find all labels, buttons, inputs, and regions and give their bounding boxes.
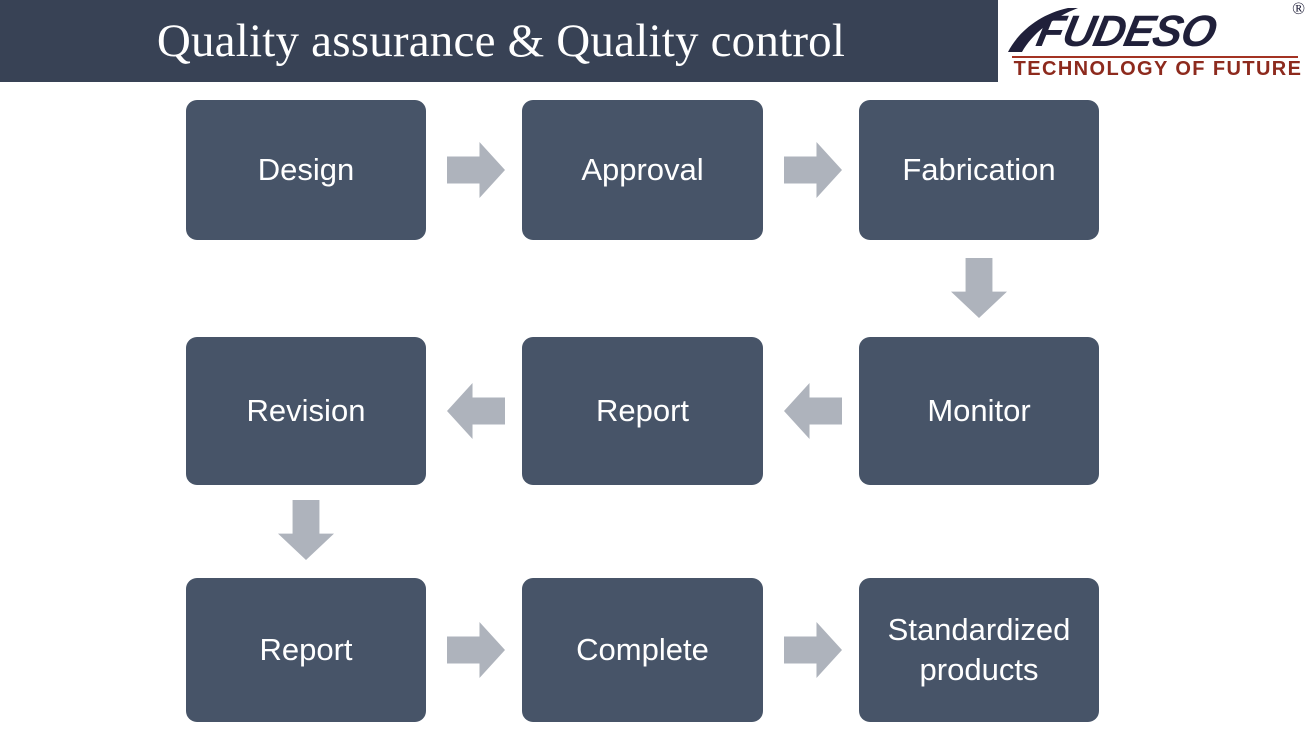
- arrow-right-icon-report-to-complete: [447, 622, 505, 678]
- logo-tagline: TECHNOLOGY OF FUTURE: [1010, 58, 1306, 81]
- arrow-left-icon-monitor-to-report: [784, 383, 842, 439]
- flow-node-monitor[interactable]: Monitor: [859, 337, 1099, 485]
- arrow-down-icon-revision-to-report: [278, 500, 334, 560]
- svg-text:FUDESO: FUDESO: [1033, 7, 1221, 54]
- flow-node-design[interactable]: Design: [186, 100, 426, 240]
- page-title: Quality assurance & Quality control: [0, 0, 998, 82]
- fudeso-wordmark-icon: FUDESO: [1006, 2, 1296, 54]
- arrow-left-icon-report-to-revision: [447, 383, 505, 439]
- brand-logo: FUDESO ® TECHNOLOGY OF FUTURE: [998, 0, 1313, 84]
- arrow-right-icon-complete-to-standardized-products: [784, 622, 842, 678]
- registered-trademark-icon: ®: [1292, 0, 1305, 17]
- flow-node-fabrication[interactable]: Fabrication: [859, 100, 1099, 240]
- flow-node-approval[interactable]: Approval: [522, 100, 763, 240]
- flow-node-complete[interactable]: Complete: [522, 578, 763, 722]
- arrow-right-icon-approval-to-fabrication: [784, 142, 842, 198]
- flow-node-revision[interactable]: Revision: [186, 337, 426, 485]
- arrow-down-icon-fabrication-to-monitor: [951, 258, 1007, 318]
- flow-node-report-bottom[interactable]: Report: [186, 578, 426, 722]
- flow-node-report-middle[interactable]: Report: [522, 337, 763, 485]
- arrow-right-icon-design-to-approval: [447, 142, 505, 198]
- flow-node-standardized-products[interactable]: Standardized products: [859, 578, 1099, 722]
